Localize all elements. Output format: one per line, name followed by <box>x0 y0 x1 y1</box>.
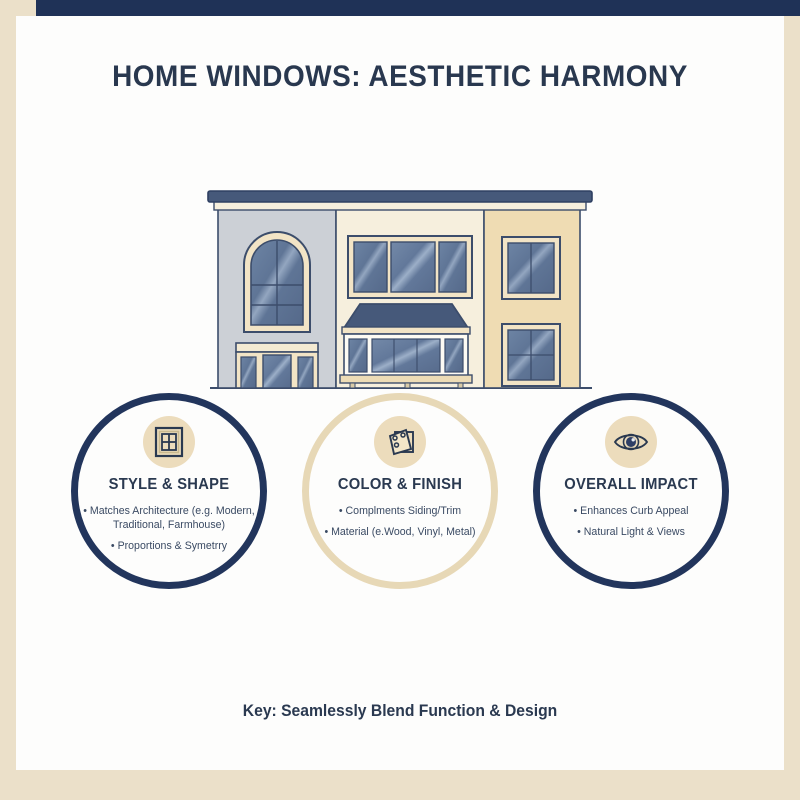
circle-card-color-finish[interactable]: COLOR & FINISH Complments Siding/Trim Ma… <box>302 393 498 589</box>
circle-card-overall-impact[interactable]: OVERALL IMPACT Enhances Curb Appeal Natu… <box>533 393 729 589</box>
circle-bullet-list: Complments Siding/Trim Material (e.Wood,… <box>297 504 503 546</box>
list-item: Material (e.Wood, Vinyl, Metal) <box>297 525 503 539</box>
circle-title: COLOR & FINISH <box>314 476 487 494</box>
swatch-icon <box>374 416 426 468</box>
list-item: Proportions & Symetrry <box>66 539 272 553</box>
circle-title: STYLE & SHAPE <box>83 476 256 494</box>
key-caption: Key: Seamlessly Blend Function & Design <box>20 702 780 721</box>
circle-card-style-shape[interactable]: STYLE & SHAPE Matches Architecture (e.g.… <box>71 393 267 589</box>
house-illustration <box>200 180 600 395</box>
list-item: Matches Architecture (e.g. Modern, Tradi… <box>66 504 272 532</box>
list-item: Complments Siding/Trim <box>297 504 503 518</box>
window-icon <box>143 416 195 468</box>
infographic-poster: HOME WINDOWS: AESTHETIC HARMONY <box>0 0 800 800</box>
circle-bullet-list: Enhances Curb Appeal Natural Light & Vie… <box>528 504 734 546</box>
eye-icon <box>605 416 657 468</box>
list-item: Natural Light & Views <box>528 525 734 539</box>
circle-bullet-list: Matches Architecture (e.g. Modern, Tradi… <box>66 504 272 560</box>
top-accent-bar <box>36 0 800 16</box>
list-item: Enhances Curb Appeal <box>528 504 734 518</box>
circle-title: OVERALL IMPACT <box>545 476 718 494</box>
page-title: HOME WINDOWS: AESTHETIC HARMONY <box>28 60 772 94</box>
